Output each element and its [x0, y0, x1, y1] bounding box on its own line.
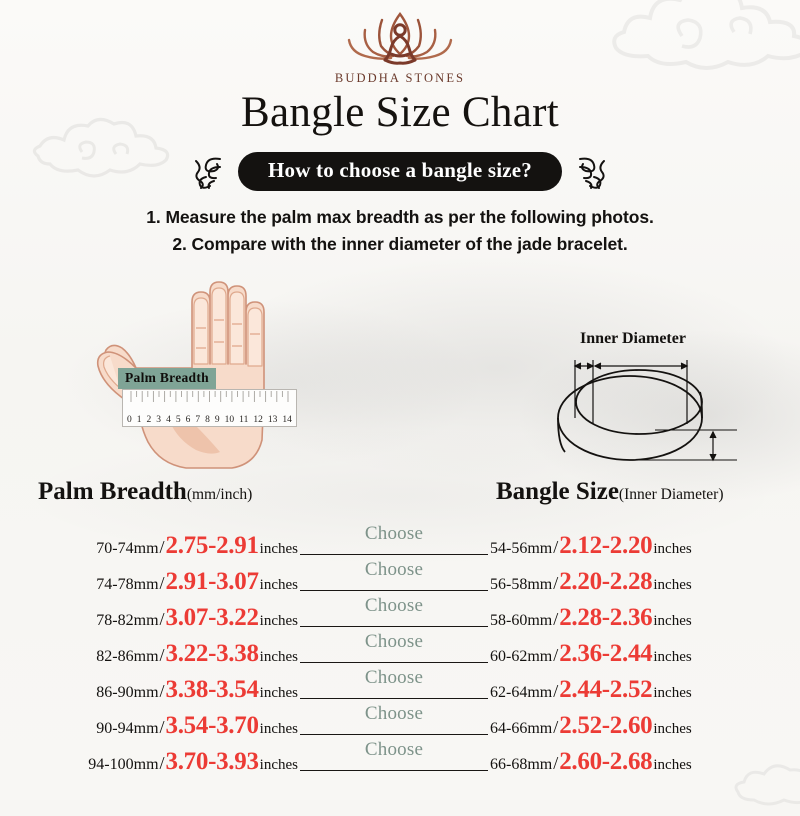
table-row: 86-90mm/3.38-3.54inches Choose 62-64mm/2…	[0, 666, 800, 702]
bangle-size-cell: 60-62mm/2.36-2.44inches	[490, 641, 780, 666]
bangle-inch-value: 2.20-2.28	[559, 569, 652, 594]
palm-size-cell: 82-86mm/3.22-3.38inches	[20, 641, 298, 666]
separator: /	[552, 645, 559, 666]
separator: /	[552, 573, 559, 594]
bangle-inch-value: 2.12-2.20	[559, 533, 652, 558]
separator: /	[552, 753, 559, 774]
ruler-tick-label: 2	[147, 415, 152, 425]
banner-question: How to choose a bangle size?	[238, 152, 562, 191]
separator: /	[552, 609, 559, 630]
flourish-ornament-right-icon	[576, 153, 610, 191]
choose-field[interactable]: Choose	[300, 596, 488, 630]
ruler-tick-label: 0	[127, 415, 132, 425]
choose-field[interactable]: Choose	[300, 632, 488, 666]
separator: /	[552, 717, 559, 738]
choose-label: Choose	[300, 523, 488, 545]
palm-size-cell: 86-90mm/3.38-3.54inches	[20, 677, 298, 702]
palm-unit-label: inches	[259, 649, 298, 666]
separator: /	[552, 681, 559, 702]
palm-size-cell: 70-74mm/2.75-2.91inches	[20, 533, 298, 558]
section-palm-title: Palm Breadth	[38, 478, 187, 505]
palm-mm-value: 82-86mm	[96, 648, 158, 666]
palm-inch-value: 3.70-3.93	[166, 749, 259, 774]
palm-unit-label: inches	[259, 577, 298, 594]
palm-inch-value: 3.38-3.54	[166, 677, 259, 702]
ruler-tick-label: 10	[225, 415, 235, 425]
choose-field[interactable]: Choose	[300, 704, 488, 738]
bangle-inch-value: 2.60-2.68	[559, 749, 652, 774]
choose-field[interactable]: Choose	[300, 524, 488, 558]
choose-label: Choose	[300, 703, 488, 725]
table-row: 78-82mm/3.07-3.22inches Choose 58-60mm/2…	[0, 594, 800, 630]
separator: /	[159, 681, 166, 702]
ruler-tick-label: 11	[239, 415, 248, 425]
choose-field[interactable]: Choose	[300, 740, 488, 774]
palm-unit-label: inches	[259, 721, 298, 738]
choose-underline	[300, 554, 488, 555]
bangle-inch-value: 2.44-2.52	[559, 677, 652, 702]
choose-label: Choose	[300, 595, 488, 617]
flourish-ornament-left-icon	[190, 153, 224, 191]
ruler-tick-label: 8	[205, 415, 210, 425]
separator: /	[159, 609, 166, 630]
palm-mm-value: 70-74mm	[96, 540, 158, 558]
palm-inch-value: 2.91-3.07	[166, 569, 259, 594]
choose-underline	[300, 626, 488, 627]
palm-inch-value: 3.54-3.70	[166, 713, 259, 738]
bangle-mm-value: 58-60mm	[490, 612, 552, 630]
bangle-size-cell: 66-68mm/2.60-2.68inches	[490, 749, 780, 774]
section-bangle-title: Bangle Size	[496, 478, 619, 505]
instruction-line-1: 1. Measure the palm max breadth as per t…	[0, 204, 800, 231]
palm-size-cell: 90-94mm/3.54-3.70inches	[20, 713, 298, 738]
palm-breadth-band: Palm Breadth	[118, 368, 216, 389]
palm-size-cell: 78-82mm/3.07-3.22inches	[20, 605, 298, 630]
bangle-inch-value: 2.52-2.60	[559, 713, 652, 738]
bangle-mm-value: 64-66mm	[490, 720, 552, 738]
table-row: 94-100mm/3.70-3.93inches Choose 66-68mm/…	[0, 738, 800, 774]
palm-mm-value: 86-90mm	[96, 684, 158, 702]
bangle-mm-value: 56-58mm	[490, 576, 552, 594]
palm-inch-value: 3.07-3.22	[166, 605, 259, 630]
ruler-tick-label: 12	[253, 415, 263, 425]
choose-underline	[300, 662, 488, 663]
bangle-inch-value: 2.36-2.44	[559, 641, 652, 666]
bangle-mm-value: 62-64mm	[490, 684, 552, 702]
palm-mm-value: 90-94mm	[96, 720, 158, 738]
choose-label: Choose	[300, 631, 488, 653]
bangle-ring-icon: Inner Diameter	[505, 326, 765, 476]
bangle-size-cell: 58-60mm/2.28-2.36inches	[490, 605, 780, 630]
instructions-list: 1. Measure the palm max breadth as per t…	[0, 204, 800, 258]
ruler-tick-label: 4	[166, 415, 171, 425]
separator: /	[159, 717, 166, 738]
palm-unit-label: inches	[259, 757, 298, 774]
lotus-meditation-icon	[341, 8, 459, 70]
section-header-bangle: Bangle Size(Inner Diameter)	[496, 478, 724, 506]
table-row: 74-78mm/2.91-3.07inches Choose 56-58mm/2…	[0, 558, 800, 594]
choose-underline	[300, 734, 488, 735]
section-palm-subtitle: (mm/inch)	[187, 486, 252, 503]
ruler-tick-label: 13	[268, 415, 278, 425]
bangle-unit-label: inches	[652, 541, 691, 558]
bangle-unit-label: inches	[652, 649, 691, 666]
bangle-unit-label: inches	[652, 685, 691, 702]
banner-row: How to choose a bangle size?	[0, 152, 800, 191]
separator: /	[159, 753, 166, 774]
palm-inch-value: 3.22-3.38	[166, 641, 259, 666]
palm-unit-label: inches	[259, 613, 298, 630]
choose-label: Choose	[300, 559, 488, 581]
palm-unit-label: inches	[259, 541, 298, 558]
table-row: 70-74mm/2.75-2.91inches Choose 54-56mm/2…	[0, 522, 800, 558]
bangle-size-cell: 54-56mm/2.12-2.20inches	[490, 533, 780, 558]
size-table: 70-74mm/2.75-2.91inches Choose 54-56mm/2…	[0, 522, 800, 774]
ruler-tick-label: 9	[215, 415, 220, 425]
bangle-size-cell: 62-64mm/2.44-2.52inches	[490, 677, 780, 702]
palm-size-cell: 94-100mm/3.70-3.93inches	[20, 749, 298, 774]
brand-name: BUDDHA STONES	[0, 71, 800, 86]
choose-underline	[300, 770, 488, 771]
section-bangle-subtitle: (Inner Diameter)	[619, 486, 724, 503]
ruler-tick-label: 6	[186, 415, 191, 425]
choose-label: Choose	[300, 667, 488, 689]
ruler-tick-label: 7	[195, 415, 200, 425]
inner-diameter-caption: Inner Diameter	[580, 330, 686, 347]
choose-field[interactable]: Choose	[300, 668, 488, 702]
bangle-inch-value: 2.28-2.36	[559, 605, 652, 630]
bangle-mm-value: 54-56mm	[490, 540, 552, 558]
palm-unit-label: inches	[259, 685, 298, 702]
palm-mm-value: 94-100mm	[88, 756, 158, 774]
section-header-palm: Palm Breadth(mm/inch)	[38, 478, 252, 506]
table-row: 82-86mm/3.22-3.38inches Choose 60-62mm/2…	[0, 630, 800, 666]
instruction-line-2: 2. Compare with the inner diameter of th…	[0, 231, 800, 258]
brand-logo: BUDDHA STONES	[0, 8, 800, 86]
bangle-size-cell: 64-66mm/2.52-2.60inches	[490, 713, 780, 738]
choose-underline	[300, 698, 488, 699]
separator: /	[552, 537, 559, 558]
ruler-tick-label: 5	[176, 415, 181, 425]
table-row: 90-94mm/3.54-3.70inches Choose 64-66mm/2…	[0, 702, 800, 738]
ruler-tick-label: 1	[137, 415, 142, 425]
choose-field[interactable]: Choose	[300, 560, 488, 594]
palm-mm-value: 74-78mm	[96, 576, 158, 594]
separator: /	[159, 573, 166, 594]
palm-inch-value: 2.75-2.91	[166, 533, 259, 558]
bangle-unit-label: inches	[652, 613, 691, 630]
page-title: Bangle Size Chart	[0, 88, 800, 137]
ruler-tick-label: 14	[282, 415, 292, 425]
ruler-tick-label: 3	[156, 415, 161, 425]
ruler-icon: 01234567891011121314	[122, 389, 297, 427]
bangle-unit-label: inches	[652, 757, 691, 774]
bangle-unit-label: inches	[652, 721, 691, 738]
bangle-mm-value: 66-68mm	[490, 756, 552, 774]
palm-size-cell: 74-78mm/2.91-3.07inches	[20, 569, 298, 594]
ruler-numbers: 01234567891011121314	[123, 415, 296, 425]
bangle-size-cell: 56-58mm/2.20-2.28inches	[490, 569, 780, 594]
choose-underline	[300, 590, 488, 591]
separator: /	[159, 645, 166, 666]
palm-mm-value: 78-82mm	[96, 612, 158, 630]
separator: /	[159, 537, 166, 558]
choose-label: Choose	[300, 739, 488, 761]
bangle-mm-value: 60-62mm	[490, 648, 552, 666]
bangle-unit-label: inches	[652, 577, 691, 594]
